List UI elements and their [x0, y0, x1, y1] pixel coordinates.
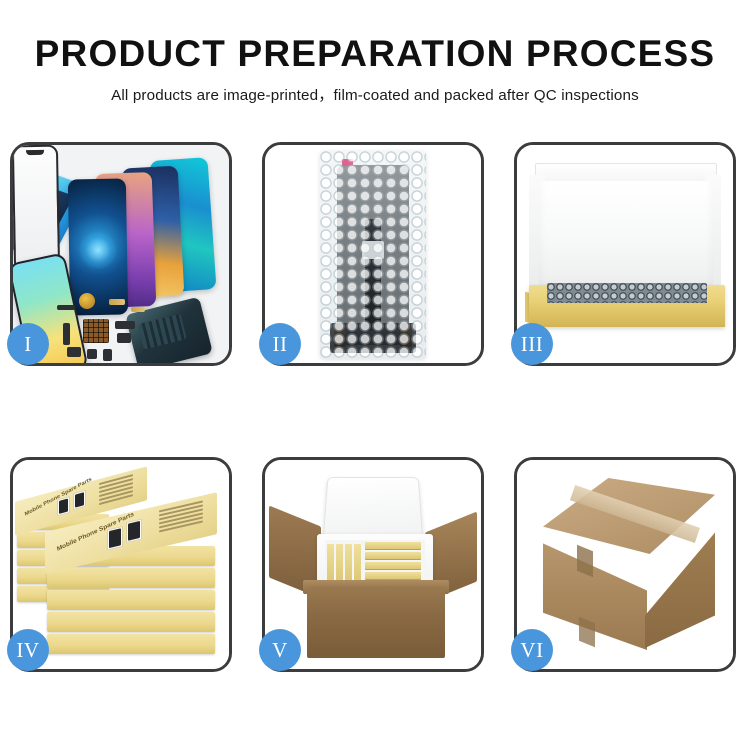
sim-tray-part — [103, 349, 112, 361]
page-title: PRODUCT PREPARATION PROCESS — [0, 34, 750, 74]
retail-box-stack: Mobile Phone Spare Parts — [17, 470, 229, 669]
side-flex-part — [63, 323, 70, 345]
packed-retail-box-5 — [365, 542, 421, 550]
process-step-panel-1: I — [10, 142, 232, 366]
shipping-carton-body — [307, 586, 445, 658]
lid-window-front-2 — [126, 518, 142, 543]
packed-retail-box-8 — [365, 572, 421, 580]
small-chip-part — [117, 333, 131, 343]
process-step-panel-3: III — [514, 142, 736, 366]
product-preparation-process-page: PRODUCT PREPARATION PROCESS All products… — [0, 0, 750, 750]
lid-spec-lines-front — [159, 500, 203, 534]
white-foam-liner — [539, 181, 713, 291]
process-step-grid: I II — [10, 142, 740, 674]
button-part — [67, 347, 81, 357]
spare-parts-cluster — [61, 293, 201, 363]
panel-3-image — [517, 145, 733, 363]
panel-2-image — [265, 145, 481, 363]
step-badge-4: IV — [7, 629, 49, 671]
lid-window-back-1 — [57, 496, 70, 516]
tempered-glass-protector — [13, 145, 60, 271]
packed-retail-box-6 — [365, 552, 421, 560]
wrapped-flex-cable — [365, 219, 381, 331]
wrapped-bottom-assembly — [330, 323, 416, 353]
stacked-box-fr-4 — [47, 612, 215, 632]
bubble-wrap-bag — [320, 151, 426, 359]
process-step-panel-4: Mobile Phone Spare Parts — [10, 457, 232, 672]
lid-window-back-2 — [73, 490, 86, 510]
process-step-panel-2: II — [262, 142, 484, 366]
step-badge-1: I — [7, 323, 49, 365]
step-badge-5: V — [259, 629, 301, 671]
step-badge-3: III — [511, 323, 553, 365]
lid-window-front-1 — [107, 526, 123, 551]
flex-cable-part — [57, 305, 75, 310]
stacked-box-fr-3 — [47, 590, 215, 610]
stacked-box-fr-5 — [47, 634, 215, 654]
camera-module-part — [115, 321, 135, 329]
packed-retail-box-7 — [365, 562, 421, 570]
yellow-box-front-face — [529, 303, 725, 327]
stacked-box-fr-2 — [47, 568, 215, 588]
pink-label-sticker — [342, 159, 353, 166]
wrapped-connector — [362, 241, 384, 259]
process-step-panel-6: VI — [514, 457, 736, 672]
carton-seam-lower — [579, 617, 595, 647]
speaker-part-icon — [79, 293, 95, 309]
step-badge-2: II — [259, 323, 301, 365]
panel-1-image — [13, 145, 229, 363]
lid-spec-lines-back — [99, 474, 133, 507]
step-badge-6: VI — [511, 629, 553, 671]
vibrator-part — [87, 349, 97, 359]
page-header: PRODUCT PREPARATION PROCESS All products… — [0, 0, 750, 105]
process-step-panel-5: V — [262, 457, 484, 672]
page-subtitle: All products are image-printed，film-coat… — [0, 83, 750, 105]
gold-connector-part — [131, 307, 145, 312]
chip-array-part — [83, 319, 109, 343]
sealed-shipping-carton — [533, 478, 723, 658]
gold-flex-part — [109, 299, 125, 305]
